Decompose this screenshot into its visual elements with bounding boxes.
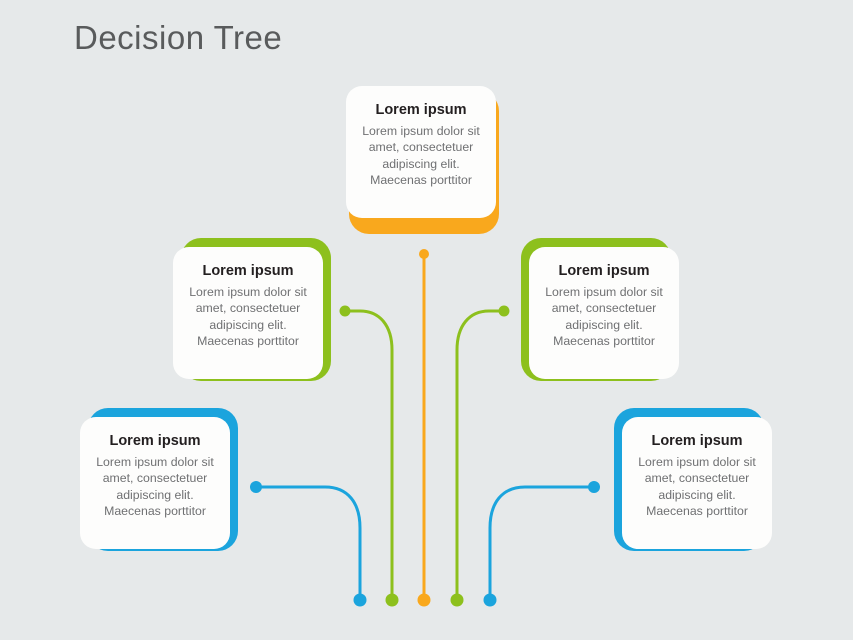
branch-start-dot: [250, 481, 262, 493]
branch-end-dot: [484, 594, 497, 607]
branch-start-dot: [499, 306, 510, 317]
node-panel: Lorem ipsum Lorem ipsum dolor sit amet, …: [80, 417, 230, 549]
branch-blue-right: [484, 481, 601, 607]
branch-blue-left: [250, 481, 367, 607]
node-title: Lorem ipsum: [183, 262, 313, 280]
branch-end-dot: [418, 594, 431, 607]
node-panel: Lorem ipsum Lorem ipsum dolor sit amet, …: [529, 247, 679, 379]
node-panel: Lorem ipsum Lorem ipsum dolor sit amet, …: [173, 247, 323, 379]
node-title: Lorem ipsum: [356, 101, 486, 119]
node-title: Lorem ipsum: [90, 432, 220, 450]
slide-canvas: Decision Tree: [0, 0, 853, 640]
decision-node-top[interactable]: Lorem ipsum Lorem ipsum dolor sit amet, …: [349, 91, 499, 234]
decision-node-left-low[interactable]: Lorem ipsum Lorem ipsum dolor sit amet, …: [88, 408, 238, 551]
branch-green-right: [451, 306, 510, 607]
node-body: Lorem ipsum dolor sit amet, consectetuer…: [539, 284, 669, 350]
decision-node-right-low[interactable]: Lorem ipsum Lorem ipsum dolor sit amet, …: [614, 408, 764, 551]
branch-green-left: [340, 306, 399, 607]
branch-end-dot: [451, 594, 464, 607]
node-title: Lorem ipsum: [632, 432, 762, 450]
branch-end-dot: [386, 594, 399, 607]
node-title: Lorem ipsum: [539, 262, 669, 280]
node-body: Lorem ipsum dolor sit amet, consectetuer…: [632, 454, 762, 520]
branch-orange-top: [418, 249, 431, 607]
branch-end-dot: [354, 594, 367, 607]
node-body: Lorem ipsum dolor sit amet, consectetuer…: [356, 123, 486, 189]
node-body: Lorem ipsum dolor sit amet, consectetuer…: [183, 284, 313, 350]
node-panel: Lorem ipsum Lorem ipsum dolor sit amet, …: [346, 86, 496, 218]
node-panel: Lorem ipsum Lorem ipsum dolor sit amet, …: [622, 417, 772, 549]
branch-start-dot: [419, 249, 429, 259]
branch-start-dot: [588, 481, 600, 493]
decision-node-left-mid[interactable]: Lorem ipsum Lorem ipsum dolor sit amet, …: [181, 238, 331, 381]
decision-node-right-mid[interactable]: Lorem ipsum Lorem ipsum dolor sit amet, …: [521, 238, 671, 381]
node-body: Lorem ipsum dolor sit amet, consectetuer…: [90, 454, 220, 520]
branch-start-dot: [340, 306, 351, 317]
